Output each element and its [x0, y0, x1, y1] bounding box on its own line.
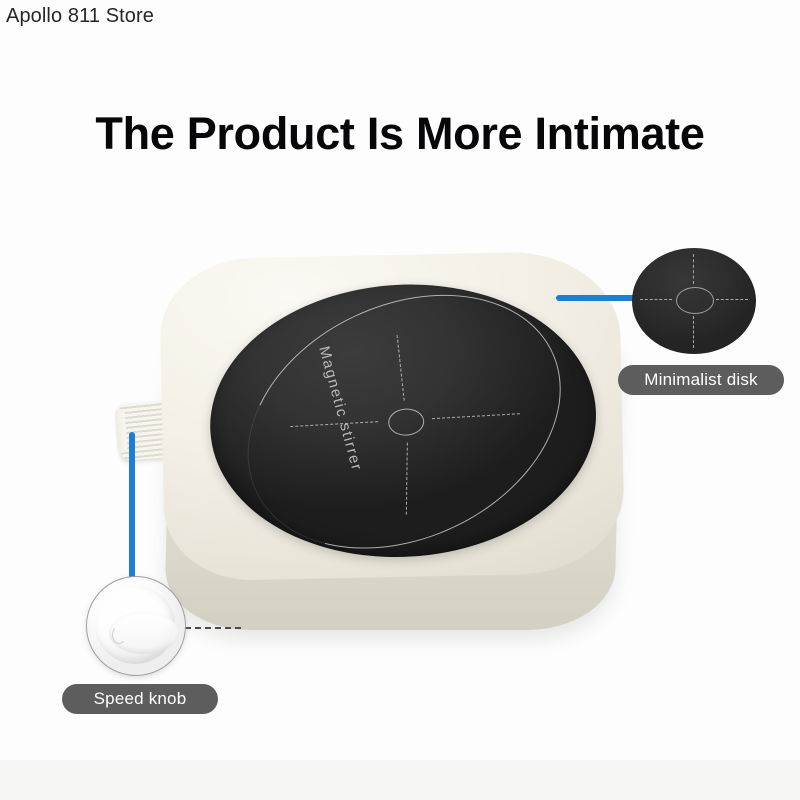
leader-line-speed-knob: [129, 432, 135, 580]
background-band: [0, 760, 800, 800]
disk-crosshair-bottom: [693, 316, 694, 348]
device-body-top: Magnetic stirrer: [159, 250, 626, 582]
store-name: Apollo 811 Store: [6, 5, 154, 28]
disk-crosshair-left: [640, 299, 672, 300]
connector-dashed-speed-knob: [185, 627, 241, 629]
disk-crosshair-top: [693, 254, 694, 284]
disk-center-ring: [676, 287, 714, 314]
speed-knob-inner-face: [95, 586, 175, 664]
leader-line-minimalist-disk: [556, 295, 636, 301]
disk-crosshair-right: [716, 299, 748, 300]
product-image: Magnetic stirrer: [150, 245, 640, 665]
minimalist-disk-illustration: [632, 248, 756, 354]
speed-knob-illustration: [86, 576, 186, 676]
device-stir-plate: Magnetic stirrer: [203, 274, 604, 567]
product-marketing-image: Apollo 811 Store The Product Is More Int…: [0, 0, 800, 800]
callout-label-speed-knob: Speed knob: [62, 684, 218, 714]
speed-knob-dimple: [112, 626, 126, 644]
page-title: The Product Is More Intimate: [0, 108, 800, 160]
callout-label-minimalist-disk: Minimalist disk: [618, 365, 784, 395]
